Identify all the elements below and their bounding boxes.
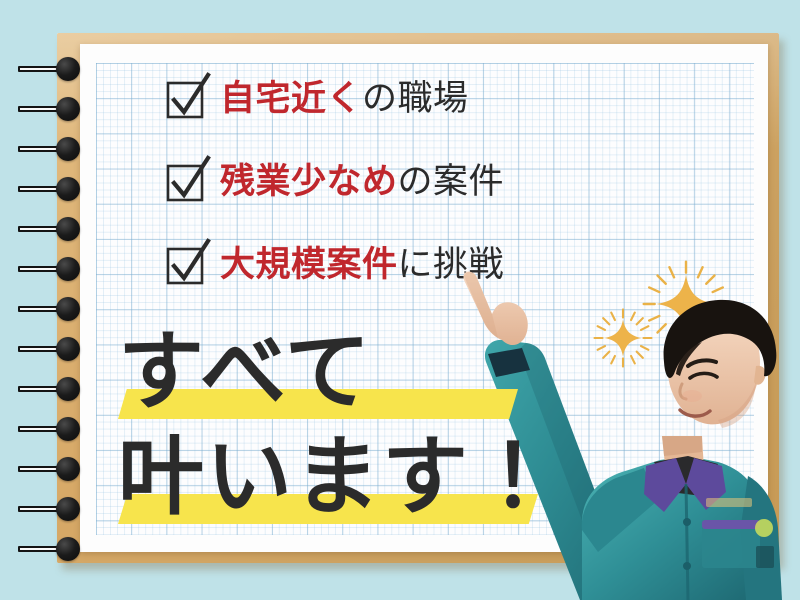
headline-line-2: 叶います！	[118, 427, 578, 532]
checklist-item-highlight: 自宅近く	[220, 79, 362, 119]
checkbox-checked-icon[interactable]	[168, 166, 202, 200]
checklist-item-text: 自宅近くの職場	[220, 82, 469, 117]
checkbox-checked-icon[interactable]	[168, 83, 202, 117]
checkbox-checked-icon[interactable]	[168, 249, 202, 283]
checklist-item-text: 残業少なめの案件	[220, 165, 504, 200]
checklist-item[interactable]: 自宅近くの職場	[168, 58, 668, 141]
headline-line-2-text: 叶います！	[118, 427, 558, 527]
checklist-item-plain: の案件	[398, 162, 505, 202]
banner-stage: 自宅近くの職場 残業少なめの案件 大規模案件に挑戦	[0, 0, 800, 600]
headline-line-1-text: すべて	[118, 322, 373, 422]
checklist-item-plain: の職場	[362, 79, 469, 119]
checklist-item-highlight: 大規模案件	[220, 245, 398, 285]
checklist-item-highlight: 残業少なめ	[220, 162, 398, 202]
spiral-binding	[0, 0, 120, 600]
checklist-item[interactable]: 残業少なめの案件	[168, 141, 668, 224]
